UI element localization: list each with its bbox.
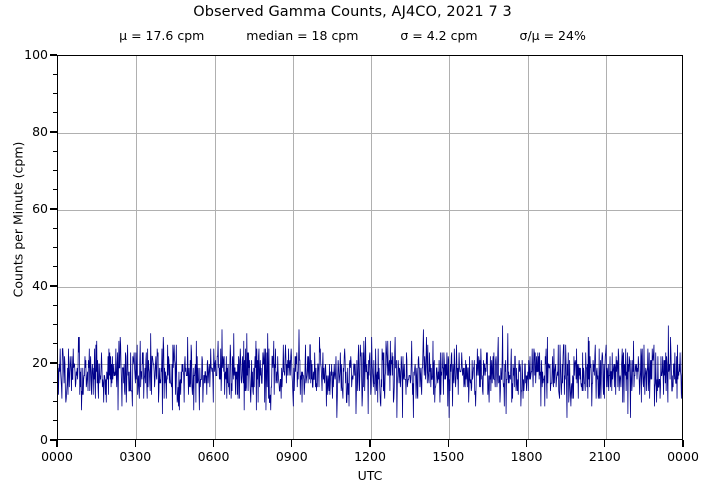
y-tick-label: 0 (0, 432, 48, 447)
x-tick-major (135, 440, 136, 447)
x-tick-label: 1200 (335, 449, 405, 464)
x-tick-label: 1800 (492, 449, 562, 464)
x-tick-major (682, 440, 683, 447)
x-tick-label: 0300 (100, 449, 170, 464)
y-tick-label: 60 (0, 201, 48, 216)
data-series-gamma-counts (58, 56, 683, 440)
stat-mean: μ = 17.6 cpm (119, 28, 204, 43)
series-polyline (58, 326, 683, 418)
x-tick-label: 0600 (179, 449, 249, 464)
y-tick-label: 80 (0, 124, 48, 139)
x-tick-major (526, 440, 527, 447)
chart-title: Observed Gamma Counts, AJ4CO, 2021 7 3 (0, 4, 705, 20)
plot-area (57, 55, 683, 440)
x-tick-major (448, 440, 449, 447)
stat-median: median = 18 cpm (246, 28, 358, 43)
x-tick-label: 0000 (648, 449, 705, 464)
x-tick-major (56, 440, 57, 447)
x-tick-label: 0000 (22, 449, 92, 464)
x-tick-major (213, 440, 214, 447)
stat-sigma: σ = 4.2 cpm (400, 28, 477, 43)
stat-cv: σ/μ = 24% (520, 28, 586, 43)
x-tick-major (369, 440, 370, 447)
x-tick-major (291, 440, 292, 447)
x-axis-label: UTC (57, 468, 683, 483)
x-tick-major (604, 440, 605, 447)
x-tick-label: 2100 (570, 449, 640, 464)
gamma-counts-figure: Observed Gamma Counts, AJ4CO, 2021 7 3 μ… (0, 0, 705, 489)
chart-subtitle: μ = 17.6 cpm median = 18 cpm σ = 4.2 cpm… (0, 28, 705, 43)
y-tick-label: 40 (0, 278, 48, 293)
x-tick-label: 0900 (257, 449, 327, 464)
x-tick-label: 1500 (413, 449, 483, 464)
y-tick-label: 20 (0, 355, 48, 370)
y-tick-label: 100 (0, 47, 48, 62)
